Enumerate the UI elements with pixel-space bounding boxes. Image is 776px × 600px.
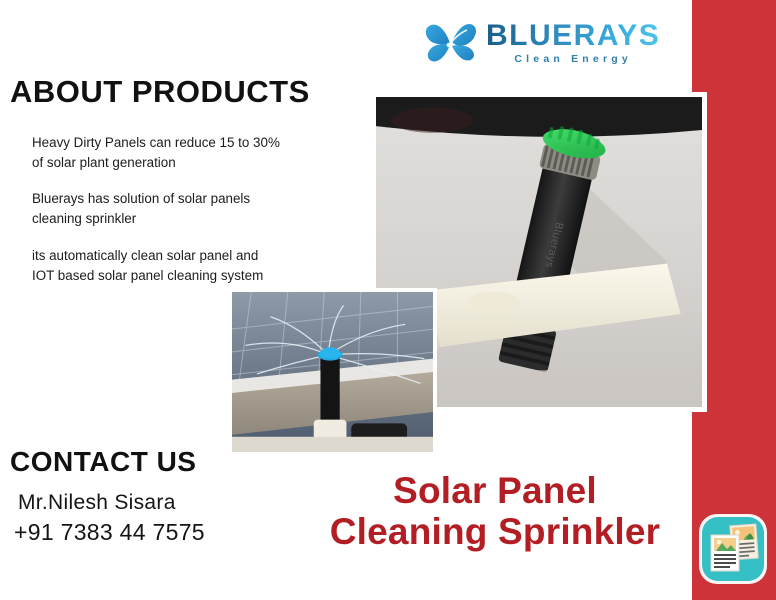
red-band-middle xyxy=(706,104,776,404)
sprinkler-on-solar-panels-photo xyxy=(228,288,437,456)
red-band-top xyxy=(692,0,776,104)
about-products-heading: ABOUT PRODUCTS xyxy=(10,74,310,110)
brand-logo: BLUERAYS Clean Energy xyxy=(422,14,654,72)
product-title: Solar Panel Cleaning Sprinkler xyxy=(300,470,690,553)
about-bullet-2: Bluerays has solution of solar panels cl… xyxy=(32,189,250,229)
poster-canvas: BLUERAYS Clean Energy ABOUT PRODUCTS Hea… xyxy=(0,0,776,600)
documents-photos-app-icon[interactable] xyxy=(697,511,769,587)
leaf-butterfly-icon xyxy=(422,16,480,70)
about-bullet-3: its automatically clean solar panel and … xyxy=(32,246,263,286)
logo-tagline: Clean Energy xyxy=(486,54,660,65)
about-bullet-1: Heavy Dirty Panels can reduce 15 to 30% … xyxy=(32,133,280,173)
logo-wordmark: BLUERAYS Clean Energy xyxy=(486,21,660,65)
logo-word: BLUERAYS xyxy=(486,21,660,51)
contact-person-name: Mr.Nilesh Sisara xyxy=(18,490,176,516)
contact-phone-number[interactable]: +91 7383 44 7575 xyxy=(14,518,205,547)
contact-us-heading: CONTACT US xyxy=(10,446,196,478)
